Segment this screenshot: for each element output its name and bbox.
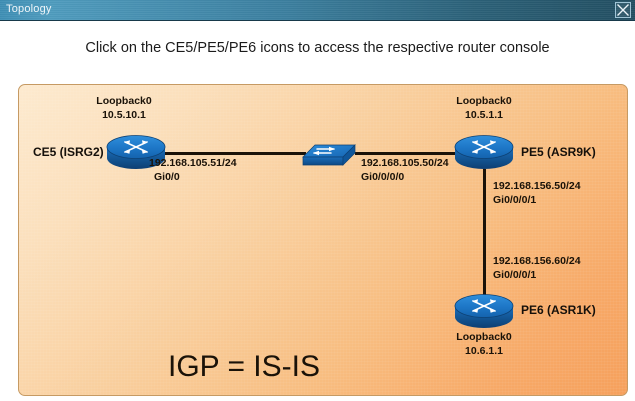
- ce5-interface-ip: 192.168.105.51/24: [149, 157, 237, 170]
- link-pe5-pe6: [483, 169, 486, 301]
- pe5-interface2-name: Gi0/0/0/1: [493, 194, 536, 207]
- topology-window: Topology Click on the CE5/PE5/PE6 icons …: [0, 0, 635, 401]
- pe5-loopback-label: Loopback0: [424, 95, 544, 108]
- router-icon: [453, 131, 515, 173]
- ce5-loopback-label: Loopback0: [69, 95, 179, 108]
- igp-label: IGP = IS-IS: [19, 350, 469, 384]
- pe6-interface-ip: 192.168.156.60/24: [493, 255, 581, 268]
- switch-node[interactable]: [301, 135, 357, 169]
- title-bar: Topology: [0, 0, 635, 21]
- router-pe5[interactable]: [453, 131, 515, 173]
- pe6-loopback-label: Loopback0: [424, 331, 544, 344]
- pe5-interface2-ip: 192.168.156.50/24: [493, 180, 581, 193]
- ce5-interface-name: Gi0/0: [154, 171, 180, 184]
- router-icon: [453, 290, 515, 332]
- instruction-text: Click on the CE5/PE5/PE6 icons to access…: [0, 40, 635, 56]
- pe5-node-name: PE5 (ASR9K): [521, 145, 596, 159]
- topology-panel: Loopback0 10.5.10.1: [18, 84, 628, 396]
- router-pe6[interactable]: [453, 290, 515, 332]
- ce5-node-name: CE5 (ISRG2): [33, 145, 104, 159]
- pe5-interface-ip: 192.168.105.50/24: [361, 157, 449, 170]
- ce5-loopback-ip: 10.5.10.1: [69, 109, 179, 122]
- switch-icon: [301, 135, 357, 169]
- pe6-interface-name: Gi0/0/0/1: [493, 269, 536, 282]
- title-bar-texture: [0, 0, 635, 20]
- pe6-node-name: PE6 (ASR1K): [521, 303, 596, 317]
- close-icon: [616, 3, 630, 17]
- window-title: Topology: [6, 3, 52, 15]
- link-switch-pe5: [355, 152, 467, 155]
- pe5-loopback-ip: 10.5.1.1: [424, 109, 544, 122]
- close-button[interactable]: [615, 2, 631, 18]
- pe5-interface-name: Gi0/0/0/0: [361, 171, 404, 184]
